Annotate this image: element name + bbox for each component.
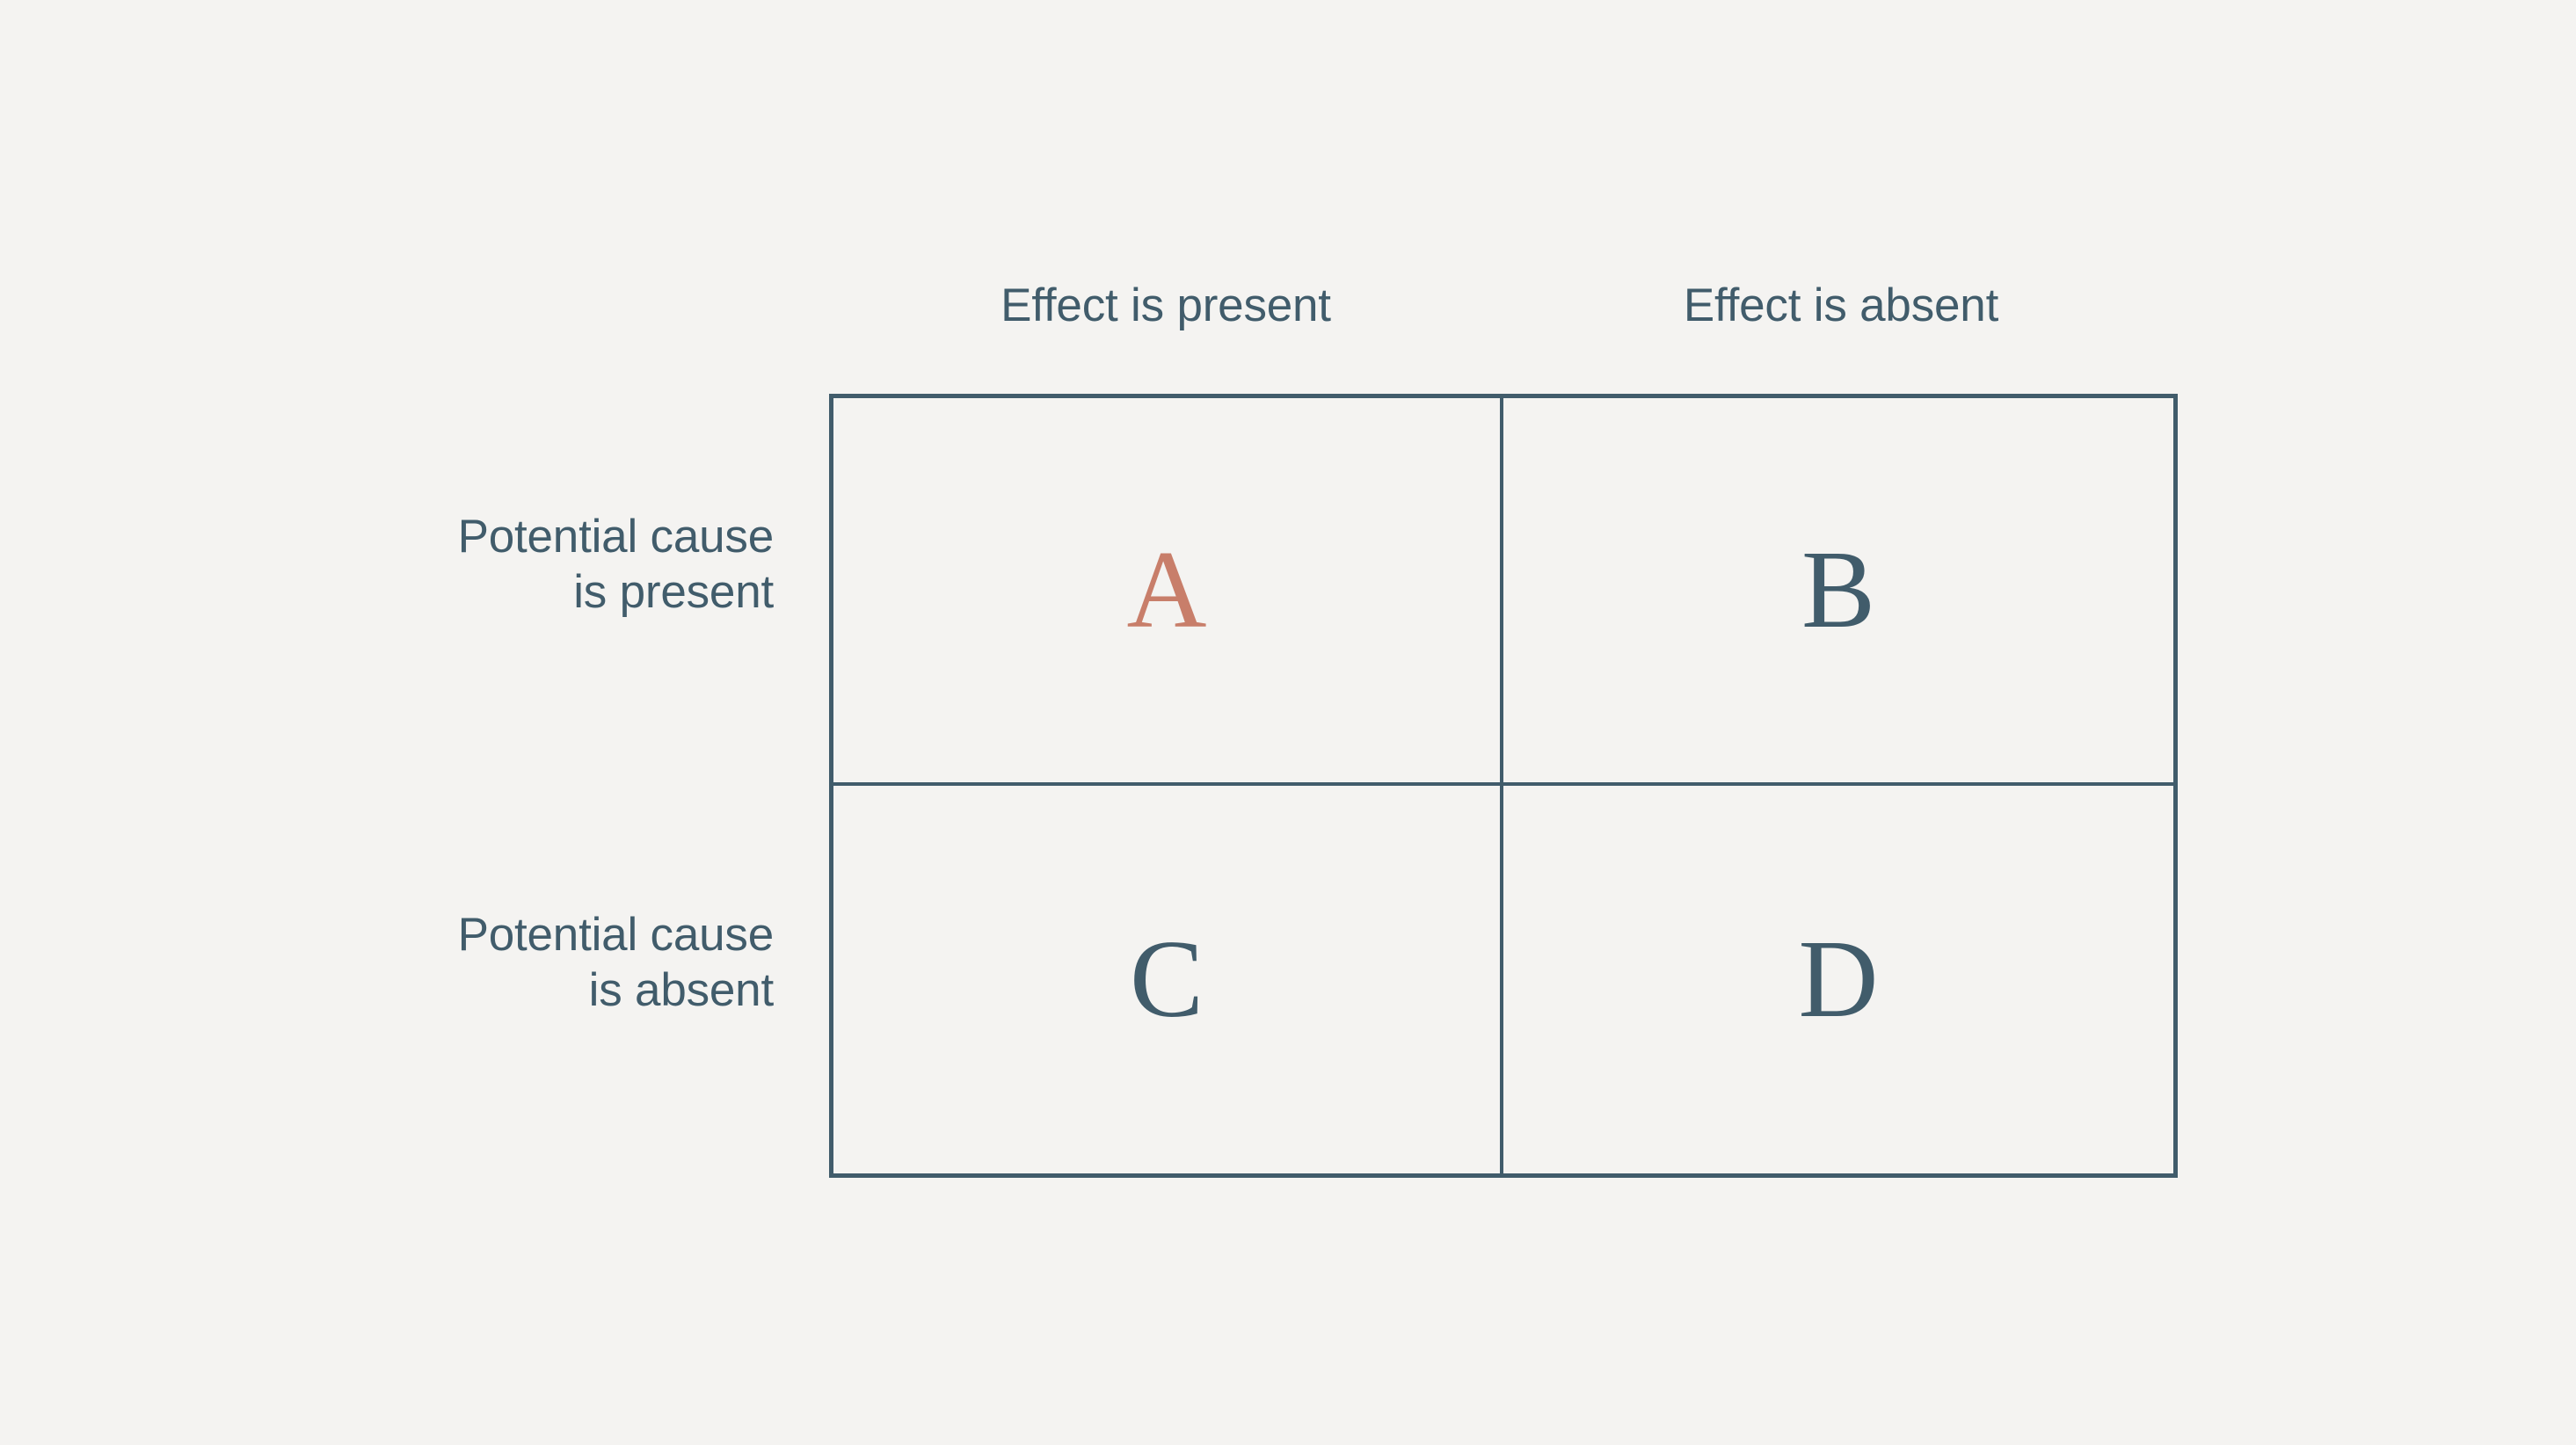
column-header-effect-present: Effect is present: [829, 264, 1503, 348]
row-header-cause-absent: Potential cause is absent: [229, 908, 774, 1018]
matrix-grid: A B C D: [829, 394, 2178, 1178]
contingency-table-figure: Effect is present Effect is absent Poten…: [0, 0, 2576, 1445]
cell-b-letter: B: [1801, 535, 1875, 646]
row-header-cause-present-line2: is present: [229, 565, 774, 621]
cell-d: D: [1503, 786, 2173, 1173]
cell-a: A: [833, 398, 1503, 786]
cell-c-letter: C: [1130, 925, 1204, 1035]
cell-a-letter: A: [1127, 535, 1207, 646]
column-header-effect-absent: Effect is absent: [1504, 264, 2178, 348]
row-header-cause-present-line1: Potential cause: [229, 510, 774, 565]
cell-d-letter: D: [1799, 925, 1879, 1035]
row-header-cause-absent-line1: Potential cause: [229, 908, 774, 963]
cell-b: B: [1503, 398, 2173, 786]
row-header-cause-absent-line2: is absent: [229, 963, 774, 1019]
cell-c: C: [833, 786, 1503, 1173]
row-header-cause-present: Potential cause is present: [229, 510, 774, 620]
